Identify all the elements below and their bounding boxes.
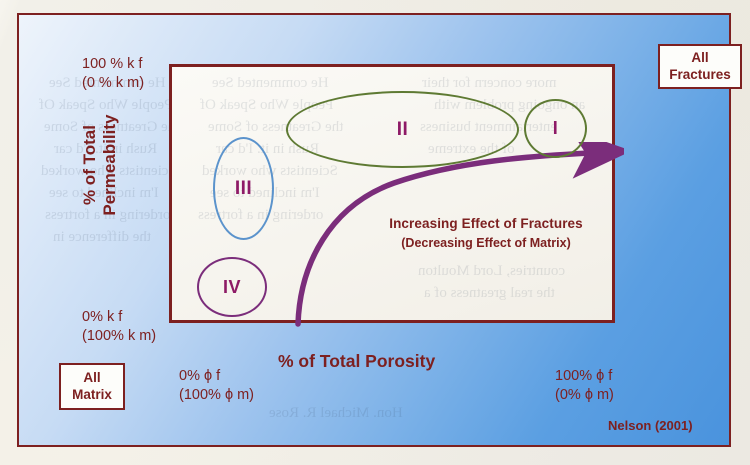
y-axis-bottom-tick-line1: 0% k f	[82, 308, 156, 327]
region-ellipse-iv: IV	[197, 257, 267, 317]
x-axis-right-tick-line2: (0% ϕ m)	[555, 386, 614, 405]
bleed-line: Hon. Michael R. Rose	[269, 405, 403, 422]
x-axis-left-tick-line1: 0% ϕ f	[179, 367, 254, 386]
y-axis-bottom-tick: 0% k f (100% k m)	[82, 308, 156, 346]
figure-root: He commented See People Who Speak Of the…	[0, 0, 750, 465]
figure-frame: He commented See People Who Speak Of the…	[17, 13, 731, 447]
figure-credit: Nelson (2001)	[608, 418, 693, 433]
x-axis-left-tick: 0% ϕ f (100% ϕ m)	[179, 367, 254, 405]
region-label-iii: III	[235, 178, 252, 200]
region-label-i: I	[553, 118, 559, 139]
all-matrix-line1: All	[83, 370, 100, 386]
x-axis-right-tick-line1: 100% ϕ f	[555, 367, 614, 386]
all-matrix-callout: All Matrix	[59, 363, 125, 410]
arrow-caption-line1: Increasing Effect of Fractures	[360, 214, 612, 234]
arrow-caption-line2: (Decreasing Effect of Matrix)	[360, 234, 612, 252]
all-fractures-callout: All Fractures	[658, 44, 742, 89]
y-axis-top-tick-line1: 100 % k f	[82, 55, 144, 74]
bleed-line: He commented See	[212, 75, 329, 92]
y-axis-bottom-tick-line2: (100% k m)	[82, 327, 156, 346]
x-axis-title: % of Total Porosity	[278, 351, 435, 372]
y-axis-title-line1: % of Total	[80, 80, 100, 250]
region-ellipse-i: I	[524, 99, 587, 158]
plot-area: He commented See People Who Speak Of the…	[169, 64, 615, 323]
all-fractures-line2: Fractures	[669, 67, 731, 83]
region-label-iv: IV	[223, 277, 241, 298]
x-axis-right-tick: 100% ϕ f (0% ϕ m)	[555, 367, 614, 405]
y-axis-title: % of Total Permeability	[80, 80, 120, 250]
all-matrix-line2: Matrix	[72, 387, 112, 403]
arrow-caption: Increasing Effect of Fractures (Decreasi…	[360, 214, 612, 252]
x-axis-left-tick-line2: (100% ϕ m)	[179, 386, 254, 405]
region-ellipse-ii: II	[286, 91, 519, 168]
all-fractures-line1: All	[691, 50, 708, 66]
region-label-ii: II	[397, 119, 409, 141]
region-ellipse-iii: III	[213, 137, 274, 240]
y-axis-title-line2: Permeability	[100, 80, 120, 250]
bleed-line: more concern for their	[422, 75, 557, 92]
